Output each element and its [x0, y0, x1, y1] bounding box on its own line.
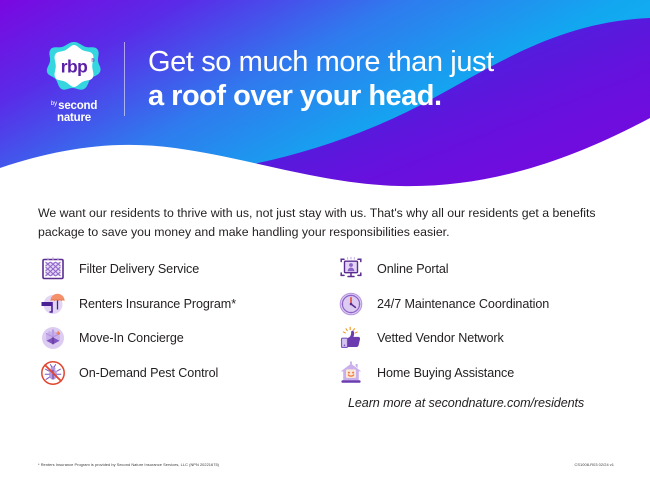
move-in-box-icon — [38, 323, 68, 353]
online-portal-monitor-icon — [336, 254, 366, 284]
brand-logo: rbp ® bysecond nature — [35, 40, 113, 124]
benefit-move-in-concierge: Move-In Concierge — [38, 321, 336, 356]
flyer-page: rbp ® bysecond nature Get so much more t… — [0, 0, 650, 488]
benefit-label: Filter Delivery Service — [79, 262, 199, 276]
benefit-vetted-vendor-network: Vetted Vendor Network — [336, 321, 618, 356]
umbrella-shield-icon — [38, 289, 68, 319]
logo-by-text: by — [51, 101, 57, 107]
rbp-logo-mark: rbp ® — [46, 40, 102, 96]
svg-text:®: ® — [91, 57, 95, 64]
headline-line-1: Get so much more than just — [148, 46, 588, 80]
intro-paragraph: We want our residents to thrive with us,… — [38, 204, 612, 242]
logo-brand-line1: second — [58, 100, 97, 112]
svg-text:rbp: rbp — [61, 57, 87, 77]
rbp-octagon-icon: rbp ® — [46, 40, 102, 96]
benefit-maintenance-coordination: 24/7 Maintenance Coordination — [336, 287, 618, 322]
benefit-label: Move-In Concierge — [79, 331, 184, 345]
benefit-label: On-Demand Pest Control — [79, 366, 218, 380]
house-smile-icon — [336, 358, 366, 388]
logo-brand-line2: nature — [51, 113, 97, 125]
hero-divider — [124, 42, 125, 116]
air-filter-icon — [38, 254, 68, 284]
benefit-home-buying-assistance: Home Buying Assistance — [336, 356, 618, 391]
benefit-pest-control: On-Demand Pest Control — [38, 356, 336, 391]
benefit-label: Renters Insurance Program* — [79, 297, 236, 311]
pest-control-icon — [38, 358, 68, 388]
learn-more-text[interactable]: Learn more at secondnature.com/residents — [348, 396, 584, 410]
footer-disclaimer: * Renters Insurance Program is provided … — [38, 462, 219, 467]
footer-doc-code: CS1008-R03 02/24 v1 — [575, 462, 614, 467]
benefit-online-portal: Online Portal — [336, 252, 618, 287]
benefit-label: Online Portal — [377, 262, 449, 276]
benefit-label: Home Buying Assistance — [377, 366, 514, 380]
benefit-label: Vetted Vendor Network — [377, 331, 504, 345]
benefit-footnote-asterisk: * — [231, 297, 236, 311]
logo-subtitle: bysecond nature — [51, 101, 97, 124]
headline-line-2: a roof over your head. — [148, 80, 588, 114]
clock-icon — [336, 289, 366, 319]
thumbs-up-icon — [336, 323, 366, 353]
hero-banner: rbp ® bysecond nature Get so much more t… — [0, 0, 650, 196]
benefits-grid: Filter Delivery Service Online Portal — [38, 252, 618, 390]
benefit-label: 24/7 Maintenance Coordination — [377, 297, 549, 311]
benefit-filter-delivery-service: Filter Delivery Service — [38, 252, 336, 287]
hero-headline: Get so much more than just a roof over y… — [148, 46, 588, 113]
benefit-renters-insurance-program: Renters Insurance Program* — [38, 287, 336, 322]
